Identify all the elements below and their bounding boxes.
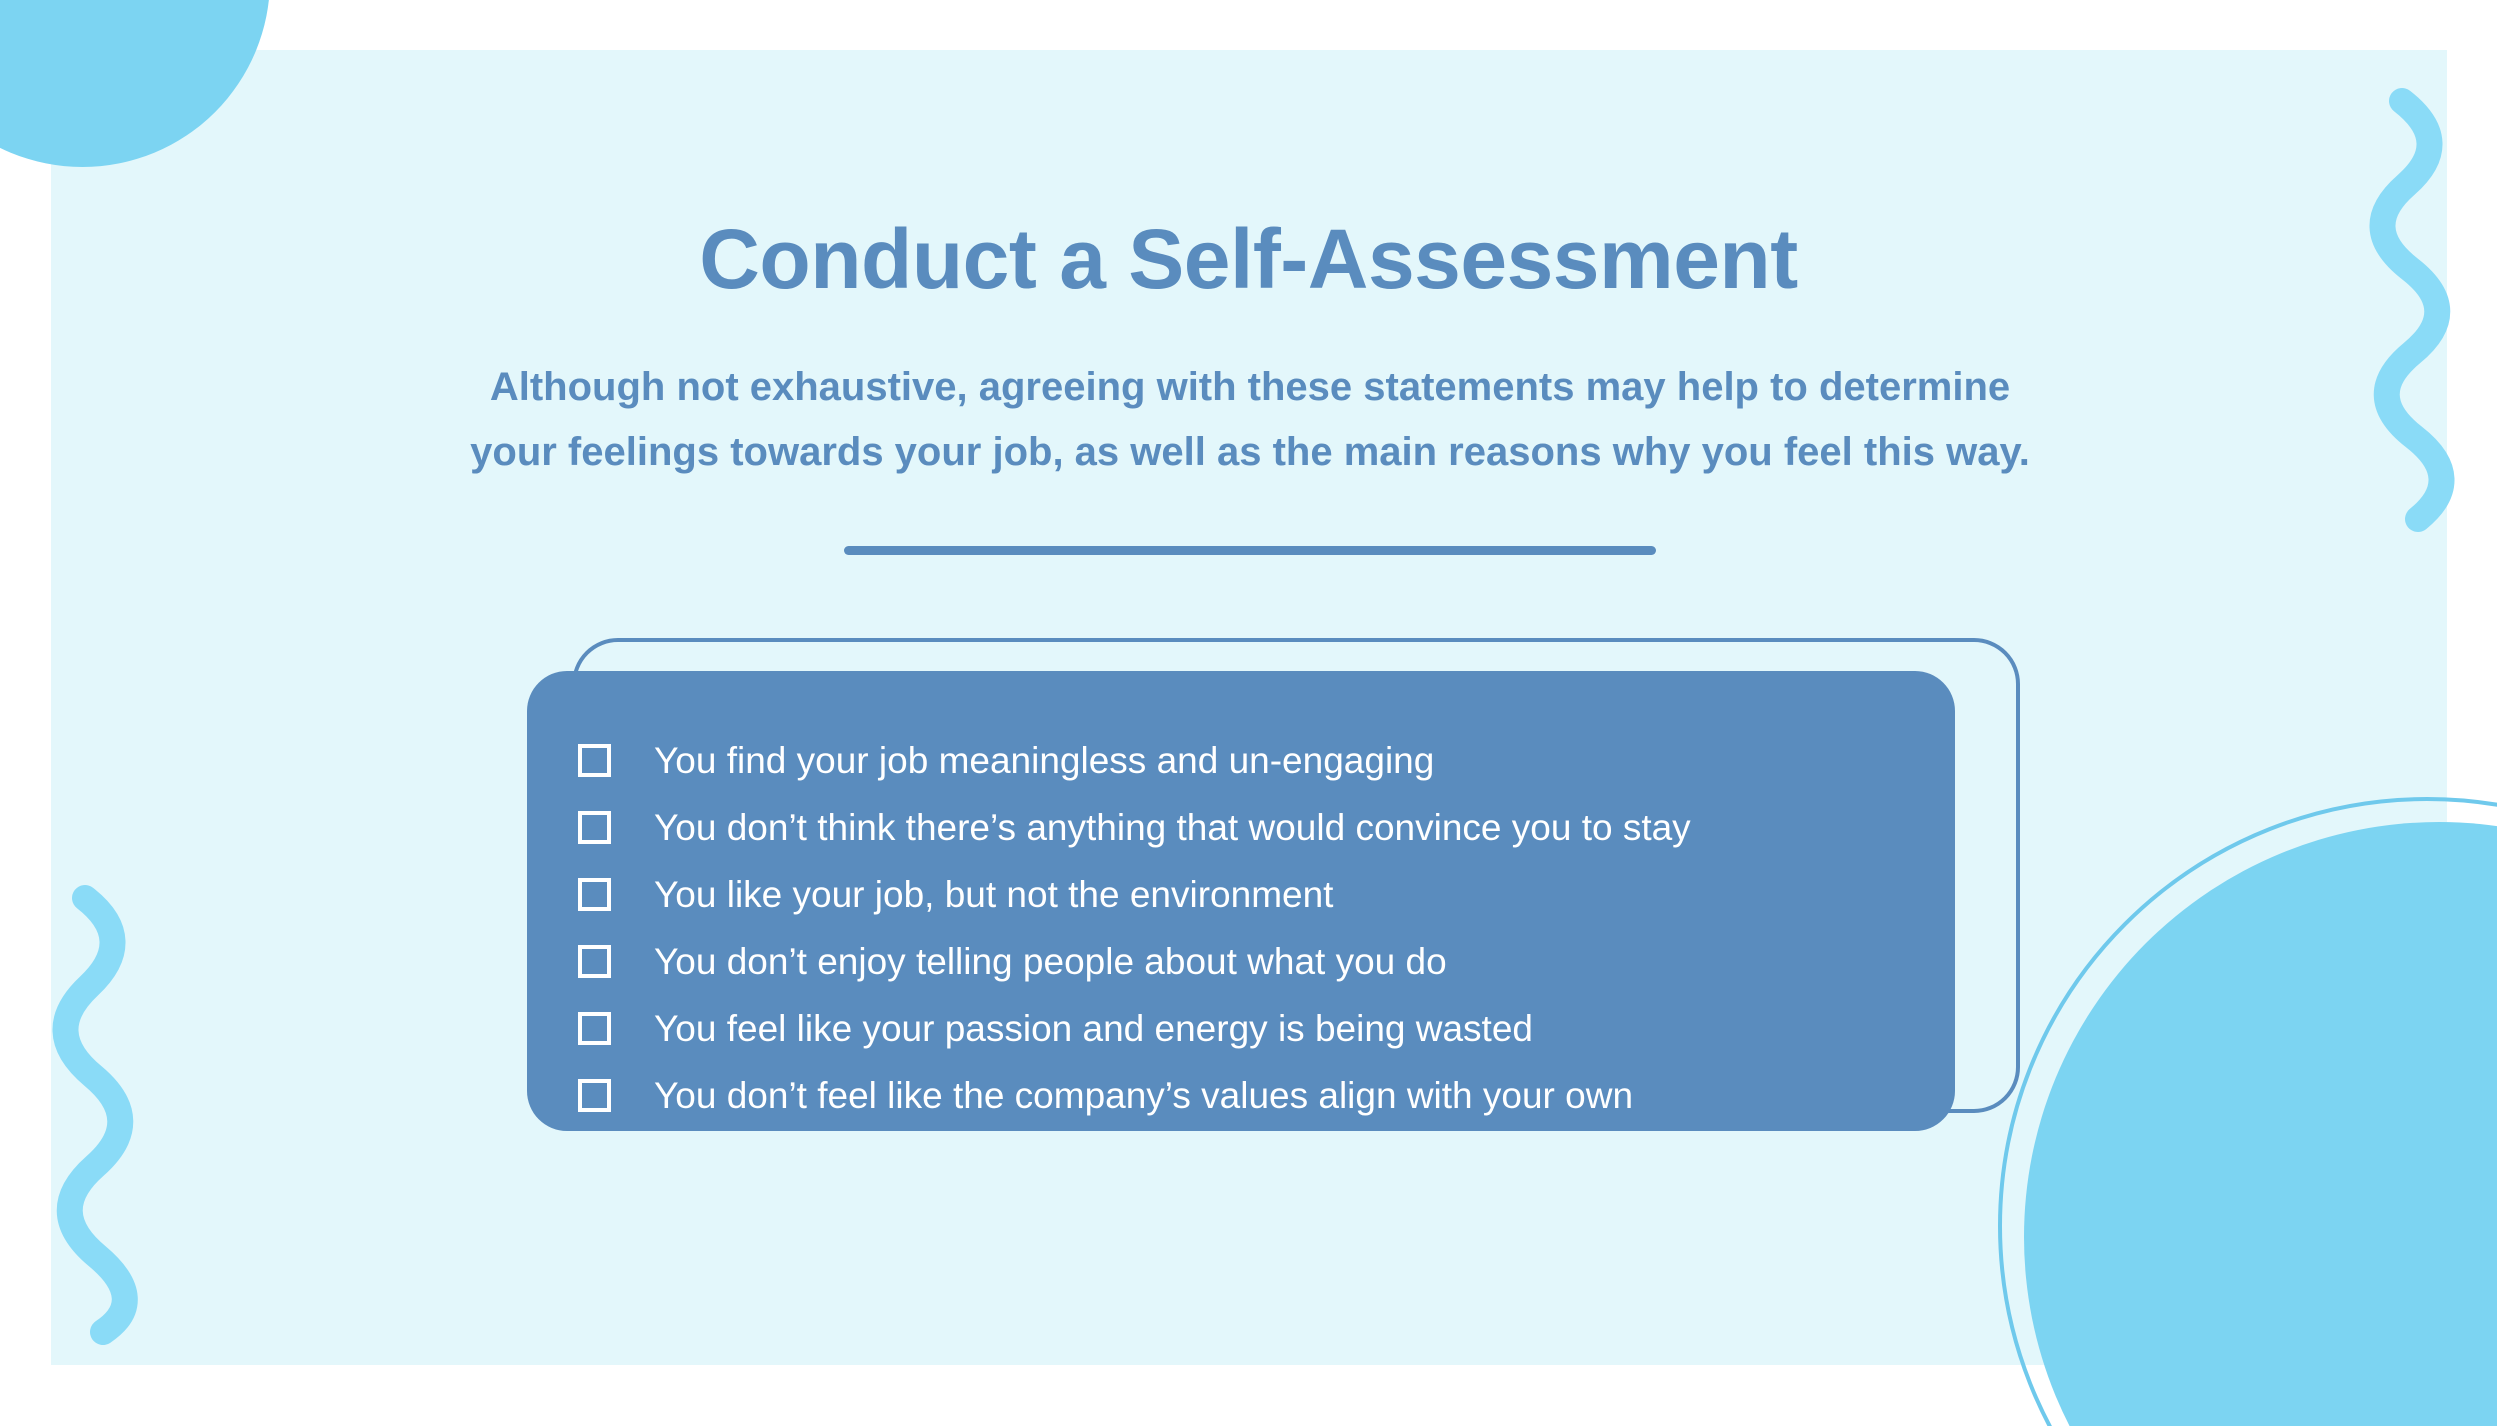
checklist-item-label: You don’t feel like the company’s values…	[654, 1077, 1633, 1114]
checklist-card-body: You find your job meaningless and un-eng…	[527, 671, 1955, 1131]
checkbox-icon[interactable]	[578, 945, 611, 978]
page-subtitle-line-2: your feelings towards your job, as well …	[390, 420, 2110, 485]
checklist-item-label: You feel like your passion and energy is…	[654, 1010, 1533, 1047]
checkbox-icon[interactable]	[578, 744, 611, 777]
checklist-list: You find your job meaningless and un-eng…	[578, 727, 1918, 1129]
page-subtitle: Although not exhaustive, agreeing with t…	[390, 355, 2110, 485]
checkbox-icon[interactable]	[578, 878, 611, 911]
checklist-item[interactable]: You like your job, but not the environme…	[578, 861, 1918, 928]
checklist-item[interactable]: You don’t enjoy telling people about wha…	[578, 928, 1918, 995]
page-title: Conduct a Self-Assessment	[0, 215, 2497, 303]
checkbox-icon[interactable]	[578, 811, 611, 844]
checklist-item-label: You like your job, but not the environme…	[654, 876, 1333, 913]
checklist-item-label: You find your job meaningless and un-eng…	[654, 742, 1434, 779]
checkbox-icon[interactable]	[578, 1079, 611, 1112]
checklist-item[interactable]: You don’t think there’s anything that wo…	[578, 794, 1918, 861]
checklist-card: You find your job meaningless and un-eng…	[527, 638, 1977, 1138]
slide-canvas: Conduct a Self-Assessment Although not e…	[0, 0, 2497, 1426]
checklist-item-label: You don’t think there’s anything that wo…	[654, 809, 1691, 846]
checklist-item-label: You don’t enjoy telling people about wha…	[654, 943, 1447, 980]
squiggle-decoration-icon	[45, 880, 155, 1350]
title-divider	[844, 546, 1656, 555]
checklist-item[interactable]: You find your job meaningless and un-eng…	[578, 727, 1918, 794]
checklist-item[interactable]: You feel like your passion and energy is…	[578, 995, 1918, 1062]
squiggle-decoration-icon	[2362, 85, 2472, 535]
checklist-item[interactable]: You don’t feel like the company’s values…	[578, 1062, 1918, 1129]
checkbox-icon[interactable]	[578, 1012, 611, 1045]
page-subtitle-line-1: Although not exhaustive, agreeing with t…	[390, 355, 2110, 420]
